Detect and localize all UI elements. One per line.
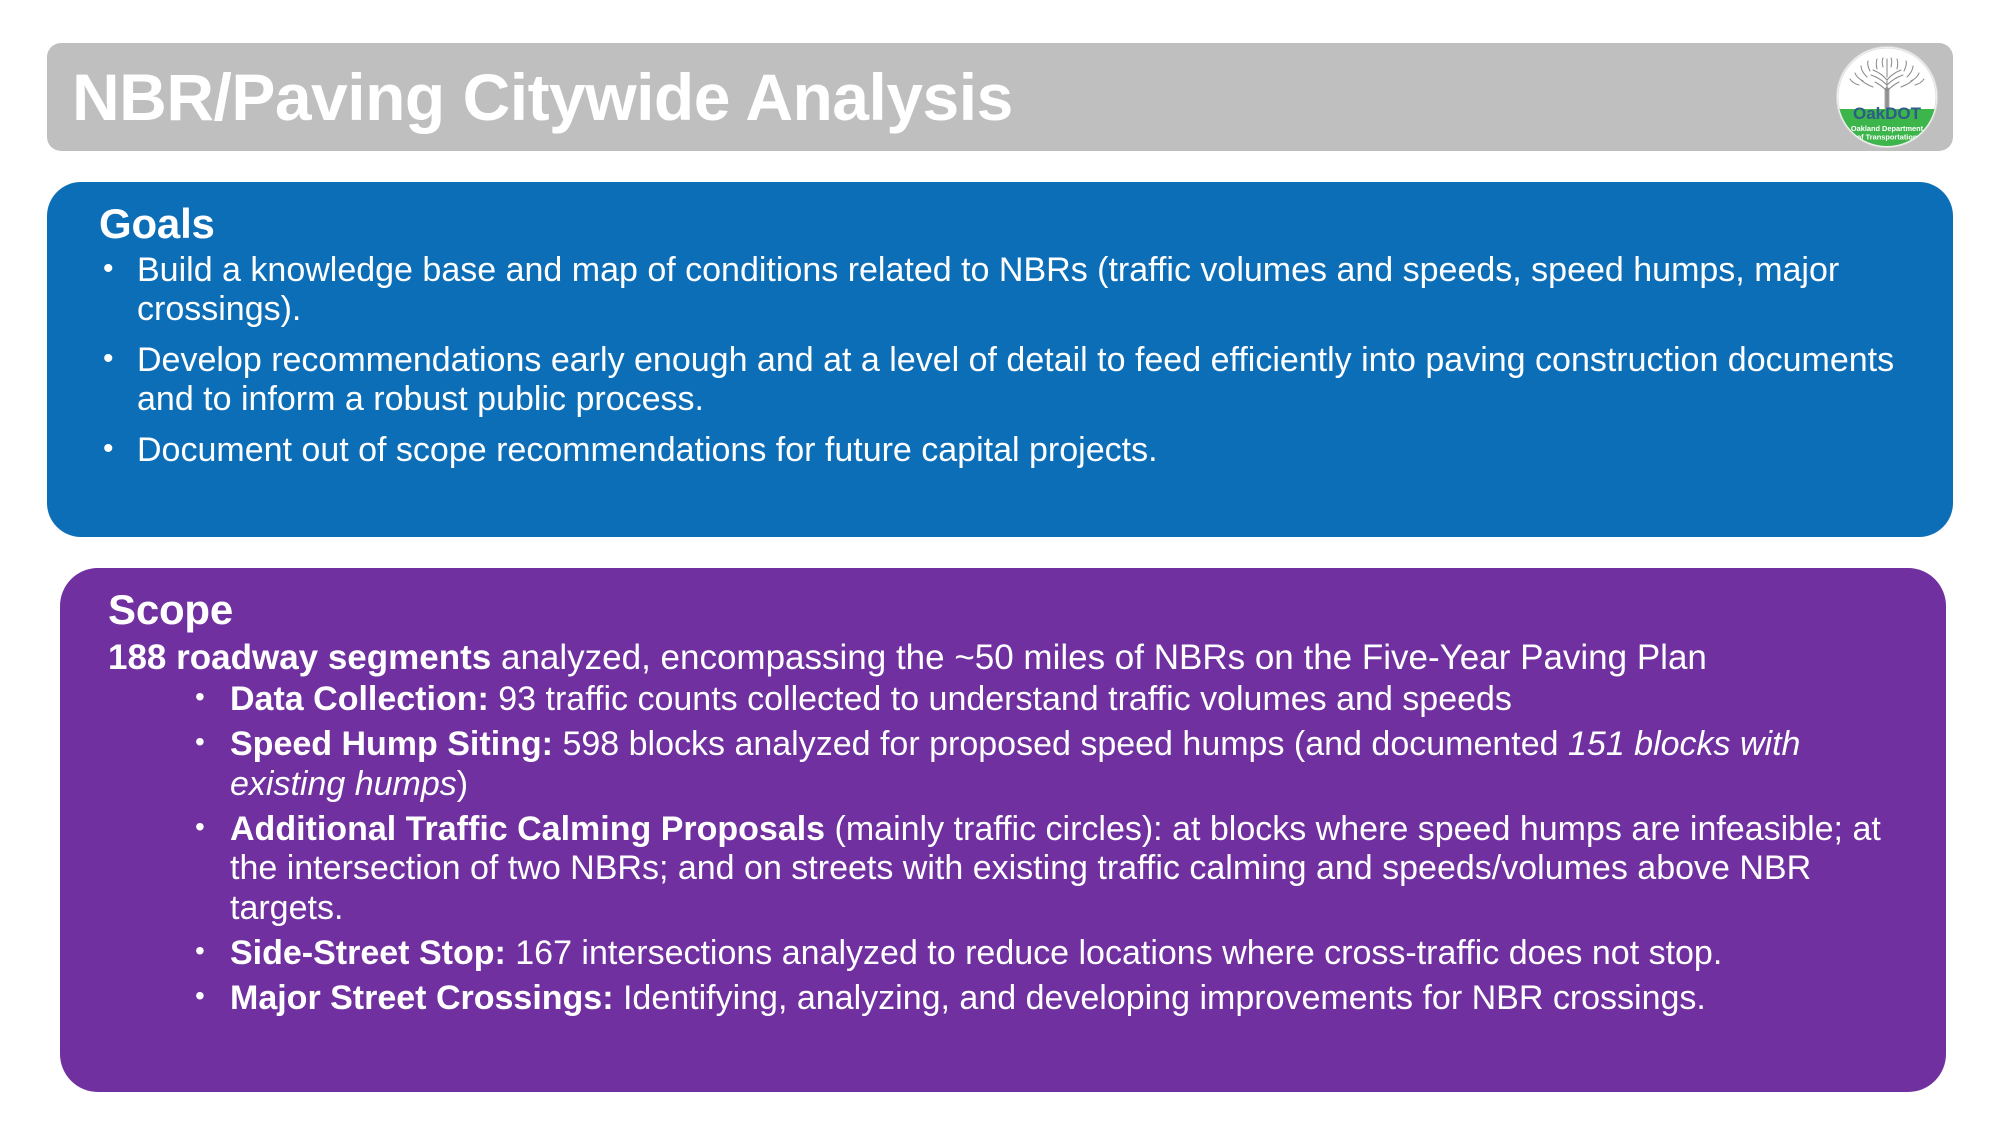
slide-root: NBR/Paving Citywide Analysis bbox=[0, 0, 2000, 1125]
scope-item-text: 93 traffic counts collected to understan… bbox=[489, 680, 1512, 718]
scope-item-label: Side-Street Stop: bbox=[230, 934, 506, 972]
scope-bullet-item: Data Collection: 93 traffic counts colle… bbox=[92, 680, 1916, 720]
scope-item-label: Data Collection: bbox=[230, 680, 489, 718]
scope-bullet-list: Data Collection: 93 traffic counts colle… bbox=[92, 680, 1916, 1018]
scope-item-text-tail: ) bbox=[457, 765, 468, 803]
scope-intro-rest: analyzed, encompassing the ~50 miles of … bbox=[491, 638, 1707, 677]
goals-bullet-item: Develop recommendations early enough and… bbox=[81, 341, 1919, 420]
logo-wordmark: OakDOT bbox=[1853, 104, 1922, 123]
scope-intro-bold: 188 roadway segments bbox=[108, 638, 491, 677]
scope-item-label: Speed Hump Siting: bbox=[230, 725, 553, 763]
scope-intro: 188 roadway segments analyzed, encompass… bbox=[108, 637, 1916, 678]
page-title: NBR/Paving Citywide Analysis bbox=[72, 64, 1013, 130]
scope-bullet-item: Additional Traffic Calming Proposals (ma… bbox=[92, 810, 1916, 929]
scope-bullet-item: Side-Street Stop: 167 intersections anal… bbox=[92, 934, 1916, 974]
goals-bullet-item: Document out of scope recommendations fo… bbox=[81, 431, 1919, 470]
scope-bullet-item: Speed Hump Siting: 598 blocks analyzed f… bbox=[92, 725, 1916, 805]
scope-heading: Scope bbox=[108, 586, 1916, 633]
scope-item-label: Major Street Crossings: bbox=[230, 979, 614, 1017]
goals-bullet-list: Build a knowledge base and map of condit… bbox=[81, 251, 1919, 470]
scope-item-text: 167 intersections analyzed to reduce loc… bbox=[506, 934, 1722, 972]
logo-tagline-line2: of Transportation bbox=[1857, 133, 1918, 142]
scope-item-text: Identifying, analyzing, and developing i… bbox=[614, 979, 1706, 1017]
scope-bullet-item: Major Street Crossings: Identifying, ana… bbox=[92, 979, 1916, 1019]
scope-item-label: Additional Traffic Calming Proposals bbox=[230, 810, 825, 848]
scope-panel: Scope 188 roadway segments analyzed, enc… bbox=[60, 568, 1946, 1092]
goals-bullet-item: Build a knowledge base and map of condit… bbox=[81, 251, 1919, 330]
title-bar: NBR/Paving Citywide Analysis bbox=[47, 43, 1953, 151]
oakdot-logo: OakDOT Oakland Department of Transportat… bbox=[1837, 47, 1937, 147]
scope-item-text: 598 blocks analyzed for proposed speed h… bbox=[553, 725, 1568, 763]
goals-panel: Goals Build a knowledge base and map of … bbox=[47, 182, 1953, 537]
goals-heading: Goals bbox=[99, 200, 1919, 247]
